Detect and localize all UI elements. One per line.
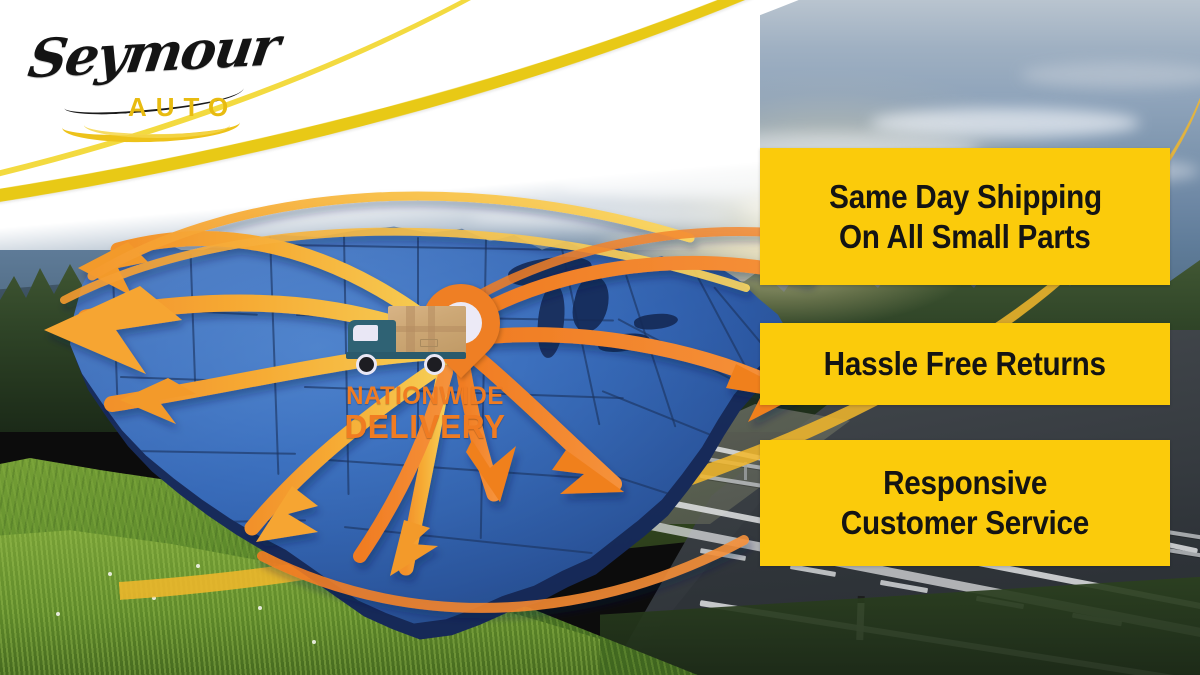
feature-box-hassle-free-returns[interactable]: Hassle Free Returns [760,323,1170,405]
feature-box-same-day-shipping[interactable]: Same Day Shipping On All Small Parts [760,148,1170,285]
feature-line: Responsive [883,463,1047,503]
feature-line: Hassle Free Returns [824,344,1106,384]
feature-box-responsive-customer-service[interactable]: Responsive Customer Service [760,440,1170,566]
brand-logo[interactable]: Seymour AUTO [24,22,264,132]
feature-line: On All Small Parts [839,217,1091,257]
truck-wheel-rear [424,354,445,375]
feature-line: Customer Service [841,503,1089,543]
feature-line: Same Day Shipping [829,177,1102,217]
promo-banner: Seymour AUTO [0,0,1200,675]
truck-window [353,325,378,341]
truck-box-label [420,339,438,347]
badge-line-nationwide: NATIONWIDE [336,382,515,411]
delivery-truck-icon [344,306,466,378]
truck-wheel-front [356,354,377,375]
state-border [55,405,97,482]
nationwide-delivery-badge: NATIONWIDE DELIVERY [330,282,520,452]
badge-line-delivery: DELIVERY [336,408,515,446]
logo-subtitle: AUTO [128,92,237,123]
logo-wordmark: Seymour [25,16,283,91]
